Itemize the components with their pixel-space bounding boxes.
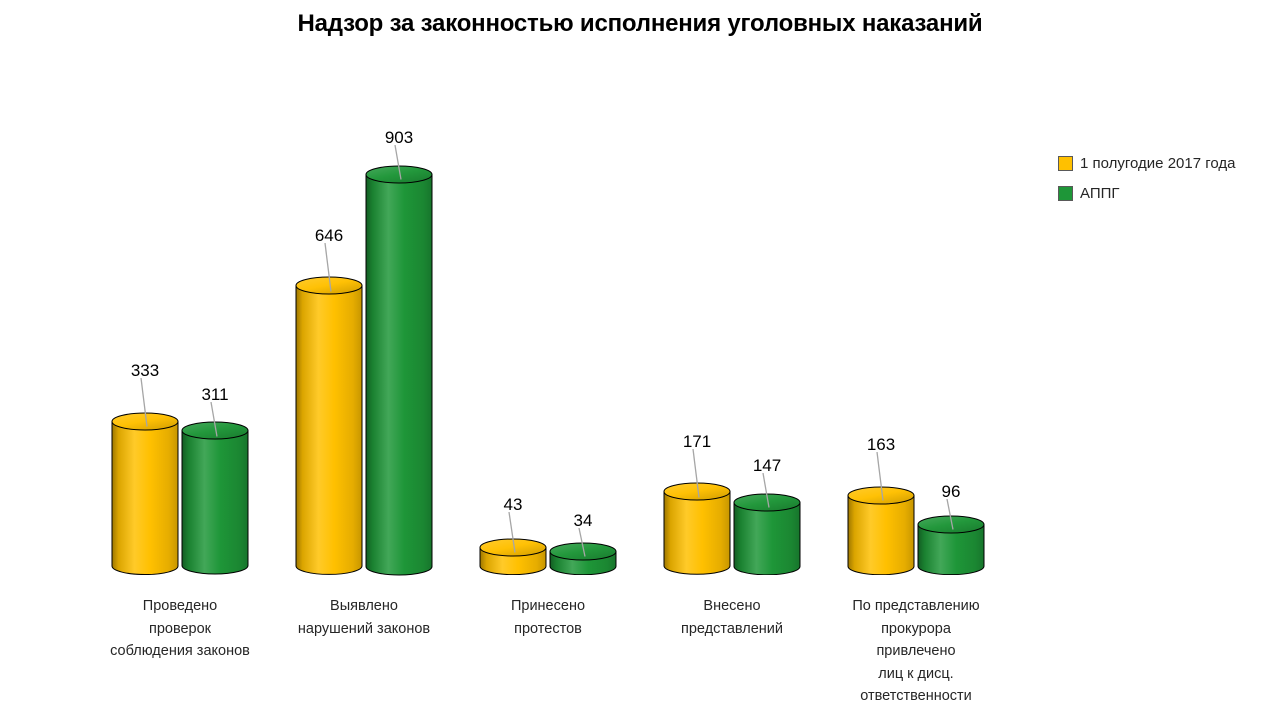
leader-line-0-1 xyxy=(201,402,231,439)
value-label-4-1: 96 xyxy=(911,483,991,500)
legend-swatch-icon xyxy=(1058,156,1073,171)
category-label-line: ответственности xyxy=(821,685,1011,708)
leader-line-2-0 xyxy=(499,512,529,555)
value-label-0-1: 311 xyxy=(175,386,255,403)
value-label-2-1: 34 xyxy=(543,512,623,529)
category-label-4: По представлениюпрокурорапривлеченолиц к… xyxy=(821,595,1011,708)
legend-swatch-icon xyxy=(1058,186,1073,201)
leader-line-4-0 xyxy=(867,452,897,503)
value-label-2-0: 43 xyxy=(473,496,553,513)
chart-legend: 1 полугодие 2017 годаАППГ xyxy=(1058,151,1235,211)
value-label-3-0: 171 xyxy=(657,433,737,450)
value-label-4-0: 163 xyxy=(841,436,921,453)
leader-line-0-0 xyxy=(131,378,161,429)
leader-line-3-0 xyxy=(683,449,713,500)
cylinder-shape xyxy=(111,412,179,576)
category-label-0: Проведенопровероксоблюдения законов xyxy=(85,595,275,663)
category-label-line: Внесено xyxy=(637,595,827,618)
leader-line-3-1 xyxy=(753,473,783,510)
category-label-line: Проведено xyxy=(85,595,275,618)
bar-1-1[interactable] xyxy=(365,165,433,576)
legend-label: 1 полугодие 2017 года xyxy=(1080,156,1235,171)
category-label-line: По представлению xyxy=(821,595,1011,618)
leader-line-1-0 xyxy=(315,243,345,294)
legend-item-0[interactable]: 1 полугодие 2017 года xyxy=(1058,151,1235,175)
category-label-line: прокурора xyxy=(821,618,1011,641)
leader-line-1-1 xyxy=(385,145,415,182)
value-label-0-0: 333 xyxy=(105,362,185,379)
leader-line-2-1 xyxy=(569,528,599,559)
category-label-1: Выявленонарушений законов xyxy=(269,595,459,640)
bar-1-0[interactable] xyxy=(295,276,363,575)
legend-item-1[interactable]: АППГ xyxy=(1058,181,1235,205)
category-label-line: Выявлено xyxy=(269,595,459,618)
plot-area: 333 311Проведенопровероксоблюдения закон… xyxy=(0,0,1060,720)
category-label-line: проверок xyxy=(85,618,275,641)
category-label-line: представлений xyxy=(637,618,827,641)
cylinder-shape xyxy=(365,165,433,576)
category-label-line: соблюдения законов xyxy=(85,640,275,663)
bar-0-0[interactable] xyxy=(111,412,179,576)
category-label-line: нарушений законов xyxy=(269,618,459,641)
cylinder-shape xyxy=(181,421,249,575)
category-label-3: Внесенопредставлений xyxy=(637,595,827,640)
leader-line-4-1 xyxy=(937,499,967,532)
value-label-1-0: 646 xyxy=(289,227,369,244)
value-label-3-1: 147 xyxy=(727,457,807,474)
chart-root: Надзор за законностью исполнения уголовн… xyxy=(0,0,1280,720)
bar-0-1[interactable] xyxy=(181,421,249,575)
category-label-line: Принесено xyxy=(453,595,643,618)
cylinder-shape xyxy=(295,276,363,575)
category-label-2: Принесенопротестов xyxy=(453,595,643,640)
category-label-line: протестов xyxy=(453,618,643,641)
category-label-line: привлечено xyxy=(821,640,1011,663)
legend-label: АППГ xyxy=(1080,186,1120,201)
category-label-line: лиц к дисц. xyxy=(821,663,1011,686)
value-label-1-1: 903 xyxy=(359,129,439,146)
